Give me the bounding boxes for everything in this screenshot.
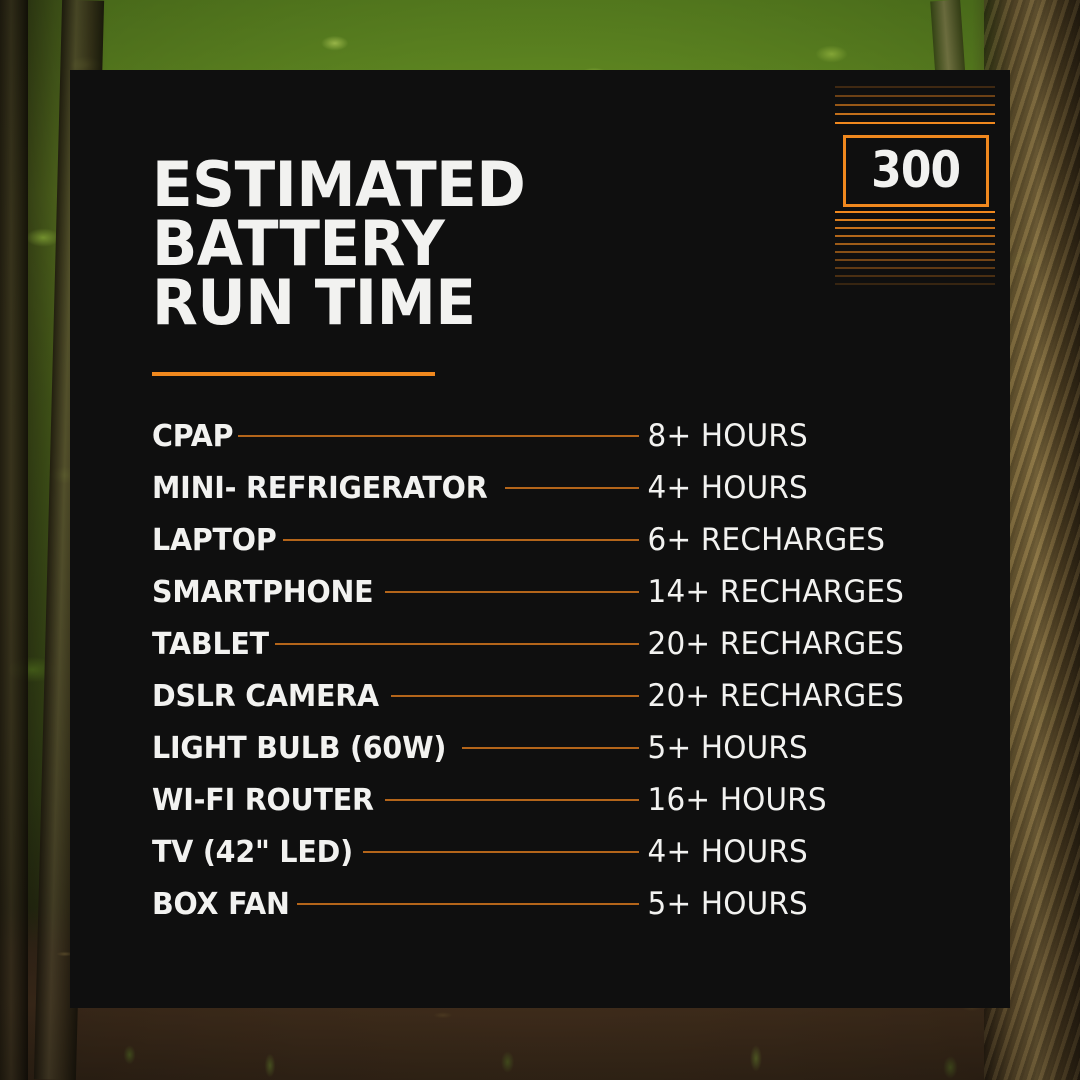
badge-stripe xyxy=(835,104,995,106)
badge-stripe xyxy=(835,95,995,97)
runtime-row-connector-line xyxy=(363,851,639,853)
runtime-row-value: 14+ RECHARGES xyxy=(639,574,936,610)
runtime-row: BOX FAN5+ HOURS xyxy=(152,878,952,930)
runtime-row: TV (42" LED)4+ HOURS xyxy=(152,826,952,878)
runtime-row: CPAP8+ HOURS xyxy=(152,410,952,462)
runtime-row-label: LIGHT BULB (60W) xyxy=(152,731,446,766)
runtime-row: LAPTOP6+ RECHARGES xyxy=(152,514,952,566)
badge-stripe xyxy=(835,227,995,229)
stripes-above-badge xyxy=(835,86,995,132)
badge-stripe xyxy=(835,243,995,245)
runtime-row-connector-line xyxy=(297,903,639,905)
badge-stripe xyxy=(835,251,995,253)
runtime-row-connector-line xyxy=(275,643,639,645)
badge-stripe xyxy=(835,235,995,237)
runtime-row-connector-line xyxy=(385,591,639,593)
runtime-row-label: LAPTOP xyxy=(152,523,277,558)
runtime-row-label: TABLET xyxy=(152,627,269,662)
capacity-badge: 300 xyxy=(835,86,995,286)
title-divider xyxy=(152,372,435,376)
title-line-3: RUN TIME xyxy=(152,274,525,333)
runtime-row: MINI- REFRIGERATOR4+ HOURS xyxy=(152,462,952,514)
runtime-row-label: BOX FAN xyxy=(152,887,290,922)
runtime-row-label: TV (42" LED) xyxy=(152,835,353,870)
badge-stripe xyxy=(835,283,995,285)
runtime-row-connector-line xyxy=(462,747,639,749)
badge-stripe xyxy=(835,86,995,88)
title-line-2: BATTERY xyxy=(152,215,525,274)
infographic-canvas: 300 ESTIMATED BATTERY RUN TIME CPAP8+ HO… xyxy=(0,0,1080,1080)
runtime-row-label: MINI- REFRIGERATOR xyxy=(152,471,487,506)
runtime-row-value: 4+ HOURS xyxy=(639,470,936,506)
badge-stripe xyxy=(835,113,995,115)
page-title: ESTIMATED BATTERY RUN TIME xyxy=(152,156,525,333)
runtime-list: CPAP8+ HOURSMINI- REFRIGERATOR4+ HOURSLA… xyxy=(152,410,952,930)
runtime-row: LIGHT BULB (60W)5+ HOURS xyxy=(152,722,952,774)
runtime-row-value: 20+ RECHARGES xyxy=(639,678,936,714)
runtime-row-connector-line xyxy=(385,799,639,801)
badge-stripe xyxy=(835,122,995,124)
badge-stripe xyxy=(835,267,995,269)
stripes-below-badge xyxy=(835,211,995,286)
badge-stripe xyxy=(835,275,995,277)
badge-stripe xyxy=(835,211,995,213)
content-card: 300 ESTIMATED BATTERY RUN TIME CPAP8+ HO… xyxy=(70,70,1010,1008)
capacity-badge-box: 300 xyxy=(843,135,989,207)
runtime-row-label: DSLR CAMERA xyxy=(152,679,379,714)
runtime-row-connector-line xyxy=(505,487,639,489)
runtime-row-value: 4+ HOURS xyxy=(639,834,936,870)
runtime-row: DSLR CAMERA20+ RECHARGES xyxy=(152,670,952,722)
runtime-row-value: 5+ HOURS xyxy=(639,730,936,766)
runtime-row-connector-line xyxy=(391,695,639,697)
runtime-row-label: CPAP xyxy=(152,419,233,454)
runtime-row-connector-line xyxy=(238,435,639,437)
runtime-row-value: 16+ HOURS xyxy=(639,782,936,818)
badge-stripe xyxy=(835,219,995,221)
capacity-badge-value: 300 xyxy=(871,145,960,198)
runtime-row-connector-line xyxy=(283,539,639,541)
runtime-row-value: 20+ RECHARGES xyxy=(639,626,936,662)
runtime-row: WI-FI ROUTER16+ HOURS xyxy=(152,774,952,826)
runtime-row-label: SMARTPHONE xyxy=(152,575,373,610)
runtime-row-value: 5+ HOURS xyxy=(639,886,936,922)
runtime-row-label: WI-FI ROUTER xyxy=(152,783,374,818)
badge-stripe xyxy=(835,259,995,261)
runtime-row: SMARTPHONE14+ RECHARGES xyxy=(152,566,952,618)
runtime-row-value: 8+ HOURS xyxy=(639,418,936,454)
runtime-row-value: 6+ RECHARGES xyxy=(639,522,936,558)
runtime-row: TABLET20+ RECHARGES xyxy=(152,618,952,670)
